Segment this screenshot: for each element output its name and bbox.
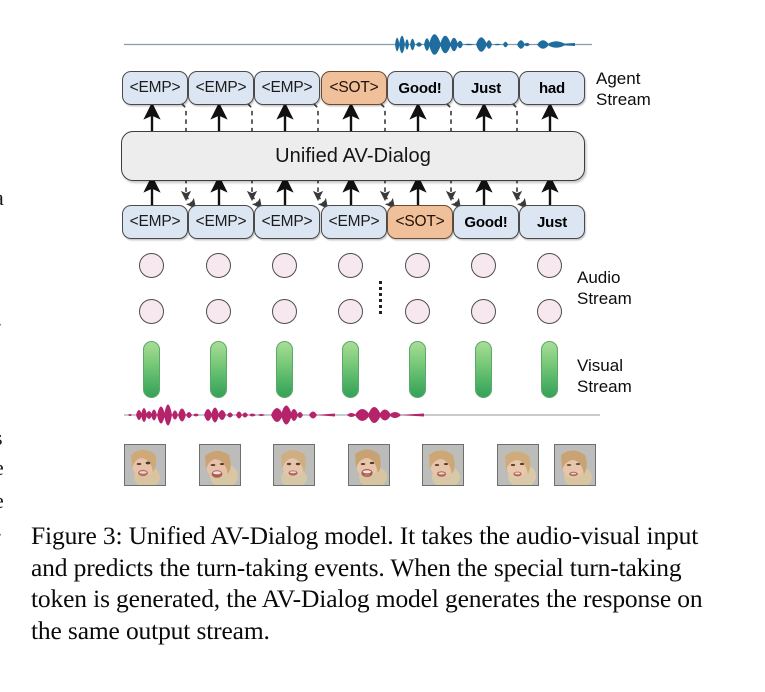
input-token-6[interactable]: Just — [519, 205, 585, 239]
dashed-link-entry-stubs — [186, 196, 524, 205]
output-arrows — [152, 111, 550, 131]
input-arrows — [152, 184, 550, 205]
output-token-6[interactable]: had — [519, 71, 585, 105]
output-token-1[interactable]: <EMP> — [188, 71, 254, 105]
unified-av-dialog-label: Unified AV-Dialog — [275, 145, 431, 168]
video-frame-thumbnail-4 — [422, 444, 464, 486]
visual-frame-2 — [276, 341, 293, 398]
audio-token-r1-c5 — [471, 299, 496, 324]
video-frame-thumbnail-5 — [497, 444, 539, 486]
input-token-1[interactable]: <EMP> — [188, 205, 254, 239]
visual-frame-3 — [342, 341, 359, 398]
input-token-5[interactable]: Good! — [453, 205, 519, 239]
input-token-4-sot[interactable]: <SOT> — [387, 205, 453, 239]
input-token-3[interactable]: <EMP> — [321, 205, 387, 239]
audio-token-r1-c3 — [338, 299, 363, 324]
audio-token-r0-c4 — [405, 253, 430, 278]
figure-caption: Figure 3: Unified AV-Dialog model. It ta… — [31, 520, 721, 646]
audio-token-r1-c4 — [405, 299, 430, 324]
audio-token-r0-c3 — [338, 253, 363, 278]
agent-stream-label: Agent Stream — [596, 68, 651, 110]
output-token-4[interactable]: Good! — [387, 71, 453, 105]
visual-frame-5 — [475, 341, 492, 398]
audio-token-r1-c6 — [537, 299, 562, 324]
agent-audio-waveform — [124, 34, 592, 55]
visual-frame-1 — [210, 341, 227, 398]
video-frame-thumbnail-0 — [124, 444, 166, 486]
user-audio-waveform — [124, 405, 600, 426]
input-token-0[interactable]: <EMP> — [122, 205, 188, 239]
audio-token-r1-c0 — [139, 299, 164, 324]
audio-token-r0-c2 — [272, 253, 297, 278]
output-token-0[interactable]: <EMP> — [122, 71, 188, 105]
visual-frame-4 — [409, 341, 426, 398]
visual-stream-label: Visual Stream — [577, 355, 632, 397]
audio-token-r0-c1 — [206, 253, 231, 278]
unified-av-dialog-box[interactable]: Unified AV-Dialog — [121, 131, 585, 181]
figure-3-diagram: <EMP> <EMP> <EMP> <SOT> Good! Just had U… — [0, 0, 765, 508]
audio-token-r0-c6 — [537, 253, 562, 278]
audio-token-r1-c1 — [206, 299, 231, 324]
audio-token-r0-c0 — [139, 253, 164, 278]
audio-token-r0-c5 — [471, 253, 496, 278]
audio-token-r1-c2 — [272, 299, 297, 324]
output-token-5[interactable]: Just — [453, 71, 519, 105]
video-frame-thumbnail-3 — [348, 444, 390, 486]
video-frame-thumbnail-6 — [554, 444, 596, 486]
input-token-2[interactable]: <EMP> — [254, 205, 320, 239]
output-token-2[interactable]: <EMP> — [254, 71, 320, 105]
column-bleed-fragment: - — [0, 520, 1, 546]
visual-frame-0 — [143, 341, 160, 398]
output-token-3-sot[interactable]: <SOT> — [321, 71, 387, 105]
video-frame-thumbnail-2 — [273, 444, 315, 486]
video-frame-thumbnail-1 — [199, 444, 241, 486]
audio-stream-label: Audio Stream — [577, 267, 632, 309]
vertical-ellipsis — [379, 281, 383, 311]
visual-frame-6 — [541, 341, 558, 398]
